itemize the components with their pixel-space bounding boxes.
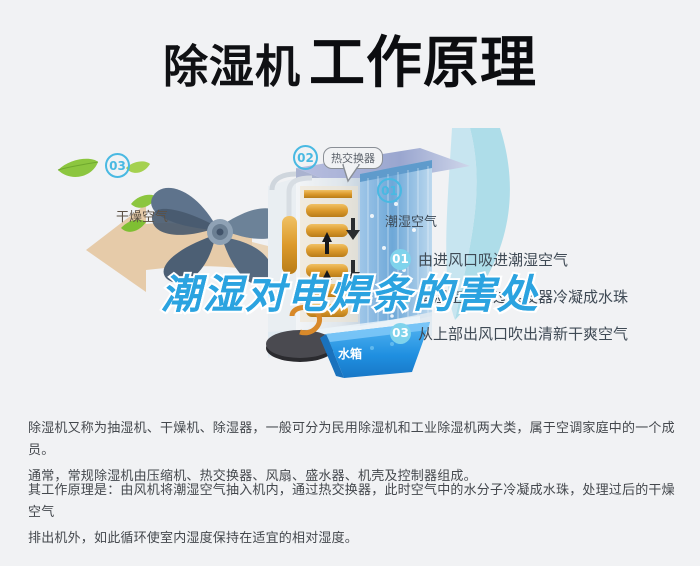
dry-air-badge: 03 bbox=[105, 153, 130, 178]
dry-air-label: 干燥空气 bbox=[116, 206, 168, 225]
heat-exchanger-badge: 02 bbox=[293, 145, 318, 170]
humid-air-badge: 01 bbox=[377, 178, 402, 203]
heat-exchanger-callout: 02 热交换器 bbox=[293, 145, 383, 170]
paragraph-2-line-1: 其工作原理是：由风机将潮湿空气抽入机内，通过热交换器，此时空气中的水分子冷凝成水… bbox=[28, 480, 678, 524]
legend-badge-03: 03 bbox=[390, 323, 411, 344]
legend-item-03: 03 从上部出风口吹出清新干爽空气 bbox=[390, 322, 700, 344]
page-title-main: 除湿机 bbox=[163, 40, 301, 93]
paragraph-1-line-1: 除湿机又称为抽湿机、干燥机、除湿器，一般可分为民用除湿机和工业除湿机两大类，属于… bbox=[28, 418, 678, 462]
dry-air-badge-wrap: 03 bbox=[105, 153, 130, 178]
humid-air-badge-wrap: 01 bbox=[377, 178, 402, 203]
page-title: 除湿机工作原理 bbox=[0, 18, 700, 99]
humid-air-label: 潮湿空气 bbox=[385, 211, 437, 230]
page-title-accent: 工作原理 bbox=[309, 31, 537, 96]
infographic-page: 除湿机工作原理 bbox=[0, 0, 700, 566]
legend-text-03: 从上部出风口吹出清新干爽空气 bbox=[418, 323, 628, 344]
body-paragraph-2: 其工作原理是：由风机将潮湿空气抽入机内，通过热交换器，此时空气中的水分子冷凝成水… bbox=[28, 480, 678, 554]
callout-pointer-icon bbox=[341, 164, 367, 184]
watermark-text: 潮湿对电焊条的害处 bbox=[0, 262, 700, 320]
paragraph-2-line-2: 排出机外，如此循环使室内湿度保持在适宜的相对湿度。 bbox=[28, 528, 678, 550]
water-tank-label: 水箱 bbox=[338, 345, 362, 362]
